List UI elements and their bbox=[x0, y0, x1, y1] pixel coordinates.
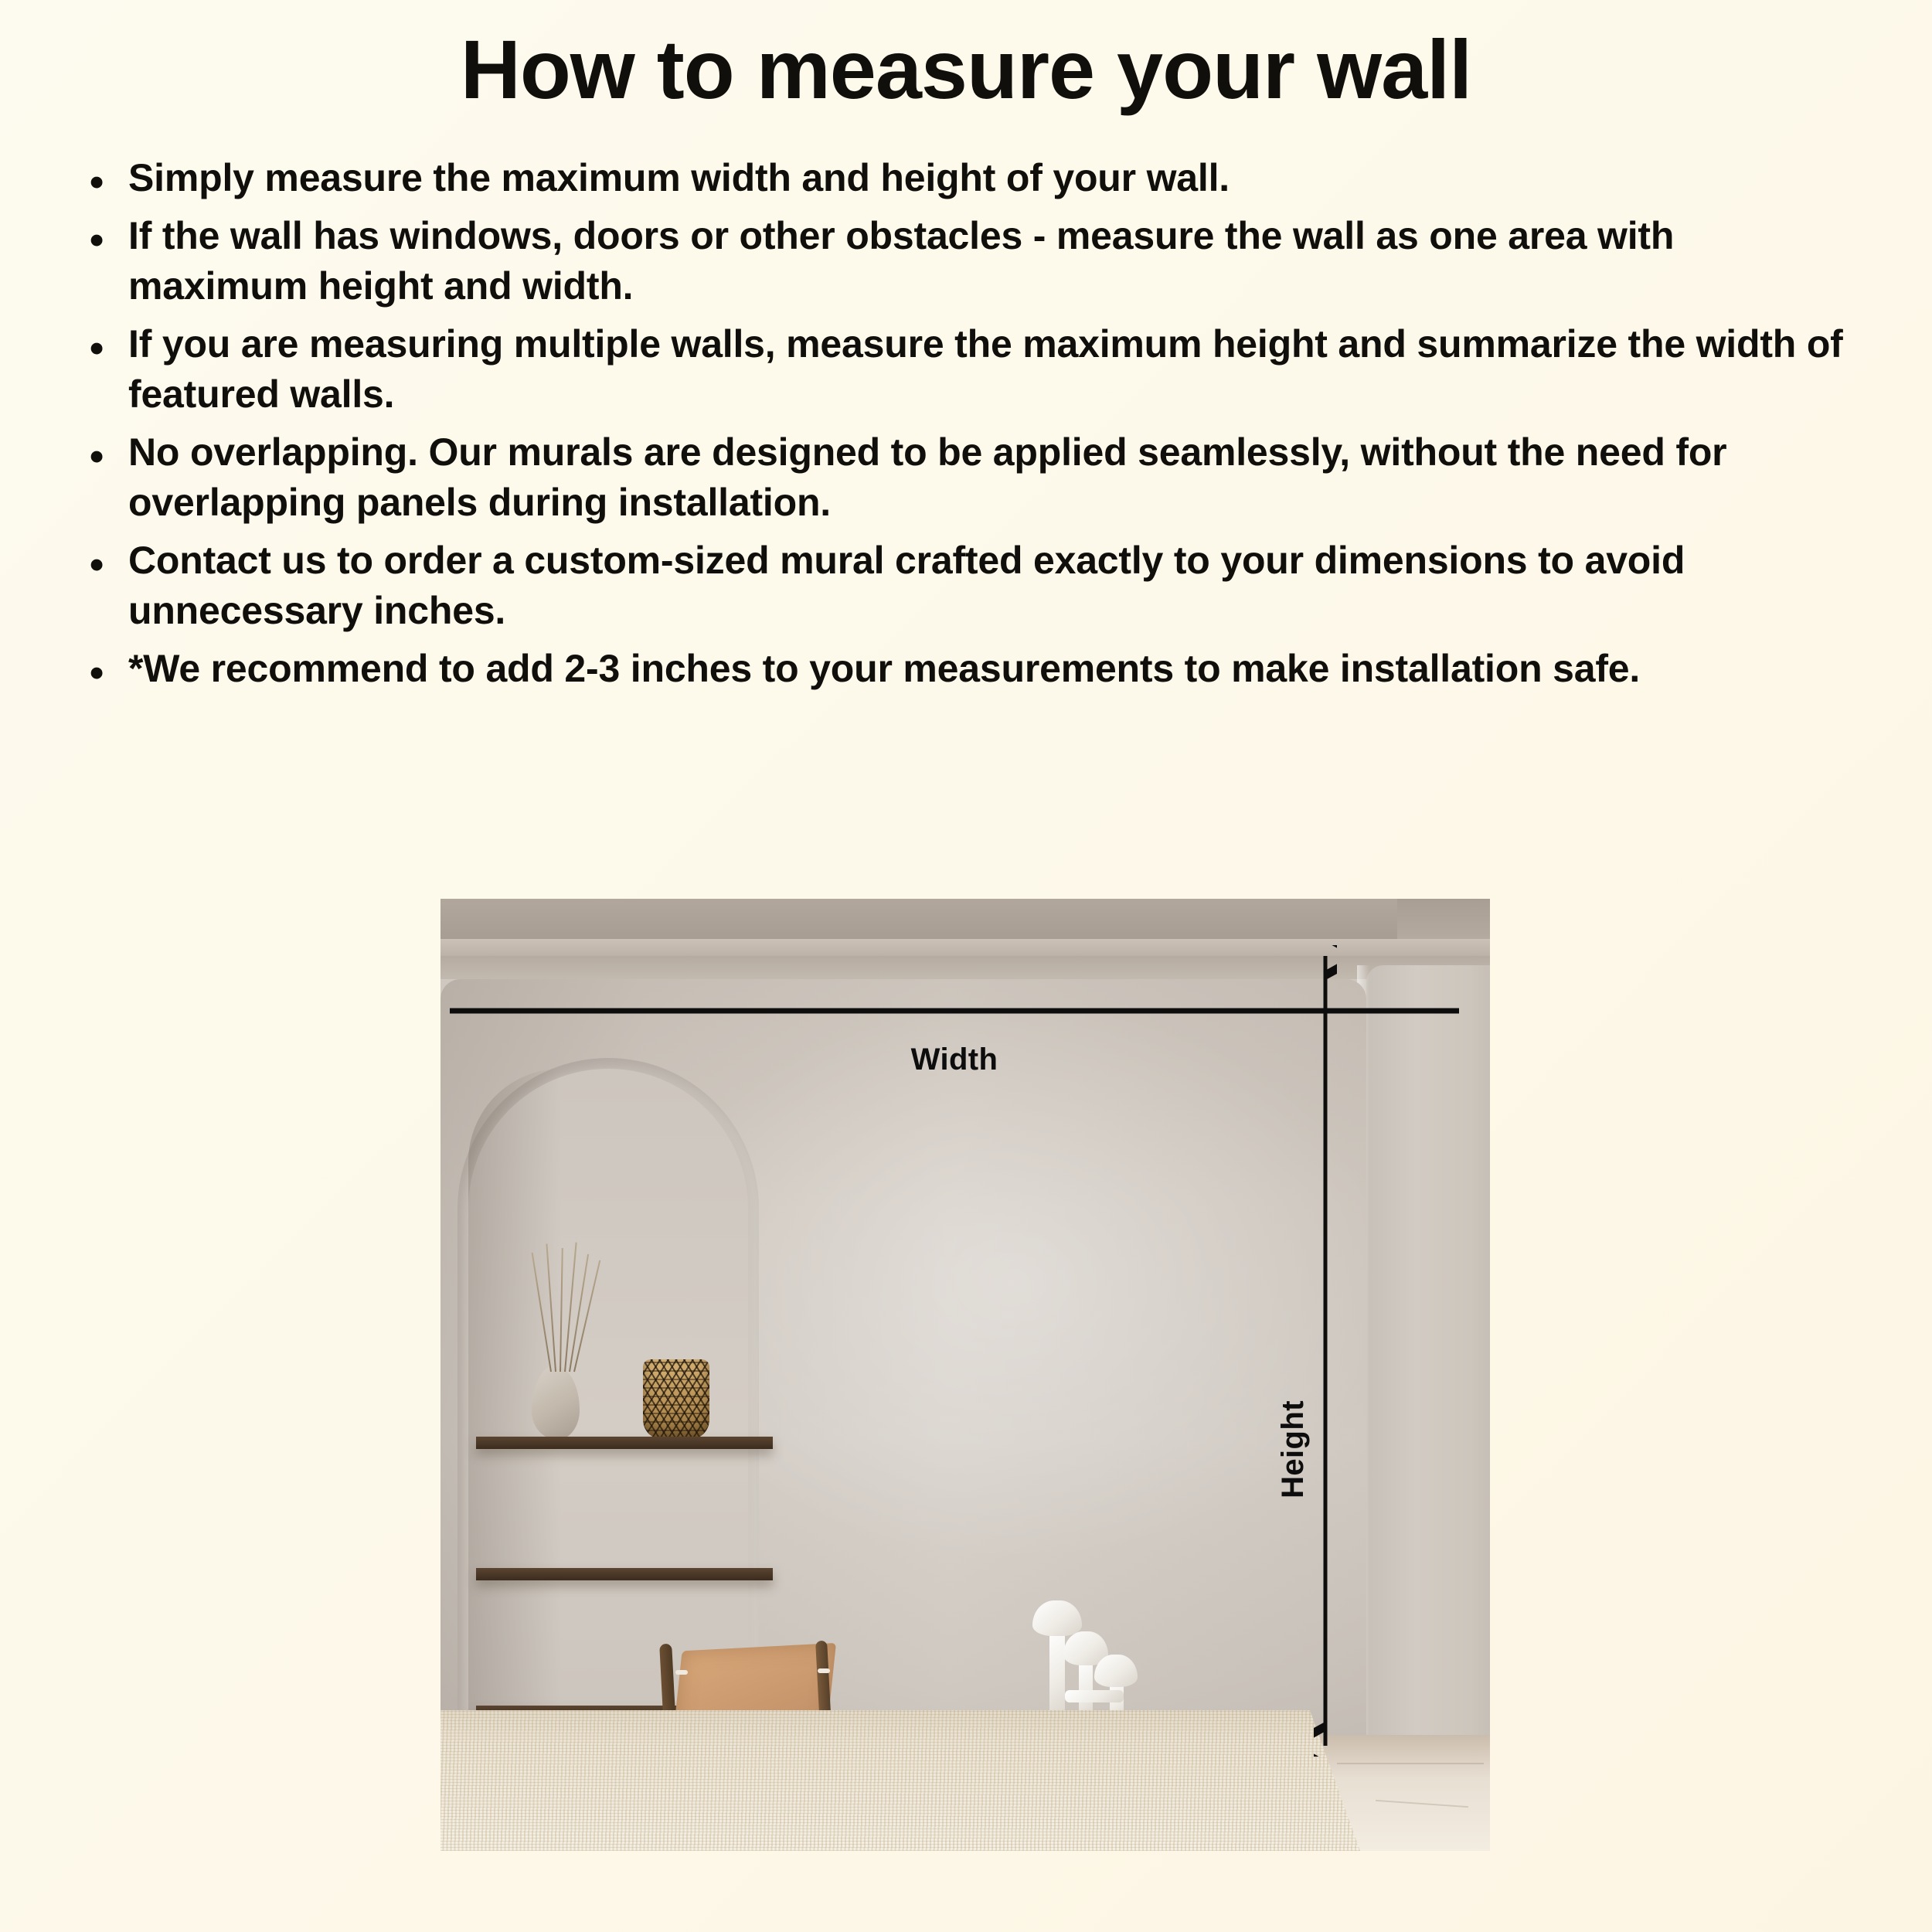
room-photo: Width Height bbox=[440, 899, 1490, 1851]
list-item-text: If you are measuring multiple walls, mea… bbox=[128, 322, 1843, 416]
height-label: Height bbox=[1276, 1400, 1311, 1498]
bullet-icon: • bbox=[90, 157, 104, 209]
list-item-text: Simply measure the maximum width and hei… bbox=[128, 156, 1230, 199]
list-item-text: *We recommend to add 2-3 inches to your … bbox=[128, 647, 1640, 690]
room-scene: Width Height bbox=[440, 899, 1490, 1851]
ceiling bbox=[440, 899, 1490, 939]
list-item: • Simply measure the maximum width and h… bbox=[83, 153, 1855, 203]
bullet-icon: • bbox=[90, 539, 104, 592]
bullet-icon: • bbox=[90, 323, 104, 376]
chair-lacing bbox=[675, 1670, 688, 1675]
bullet-icon: • bbox=[90, 648, 104, 700]
woven-basket bbox=[643, 1359, 709, 1440]
shelf-top bbox=[476, 1437, 773, 1449]
bullet-icon: • bbox=[90, 215, 104, 267]
measuring-tips-list: • Simply measure the maximum width and h… bbox=[0, 153, 1932, 694]
list-item: • No overlapping. Our murals are designe… bbox=[83, 427, 1855, 528]
chair-lacing bbox=[818, 1668, 830, 1673]
sculpture-cross-arm bbox=[1065, 1690, 1124, 1702]
list-item: • If you are measuring multiple walls, m… bbox=[83, 319, 1855, 420]
floor-plank-line bbox=[1337, 1763, 1484, 1764]
page-title: How to measure your wall bbox=[0, 0, 1932, 117]
wall-return bbox=[1366, 965, 1490, 1792]
bullet-icon: • bbox=[90, 431, 104, 484]
list-item-text: If the wall has windows, doors or other … bbox=[128, 214, 1674, 308]
sculpture-tall-stem bbox=[1049, 1628, 1065, 1719]
list-item-text: Contact us to order a custom-sized mural… bbox=[128, 539, 1685, 632]
width-label: Width bbox=[440, 1043, 1468, 1077]
list-item: • Contact us to order a custom-sized mur… bbox=[83, 536, 1855, 636]
list-item: • *We recommend to add 2-3 inches to you… bbox=[83, 644, 1855, 694]
list-item-text: No overlapping. Our murals are designed … bbox=[128, 430, 1726, 524]
list-item: • If the wall has windows, doors or othe… bbox=[83, 211, 1855, 311]
shelf-middle bbox=[476, 1568, 773, 1580]
sculpture-short-head bbox=[1094, 1655, 1138, 1687]
floor-plank-line bbox=[1376, 1800, 1468, 1808]
